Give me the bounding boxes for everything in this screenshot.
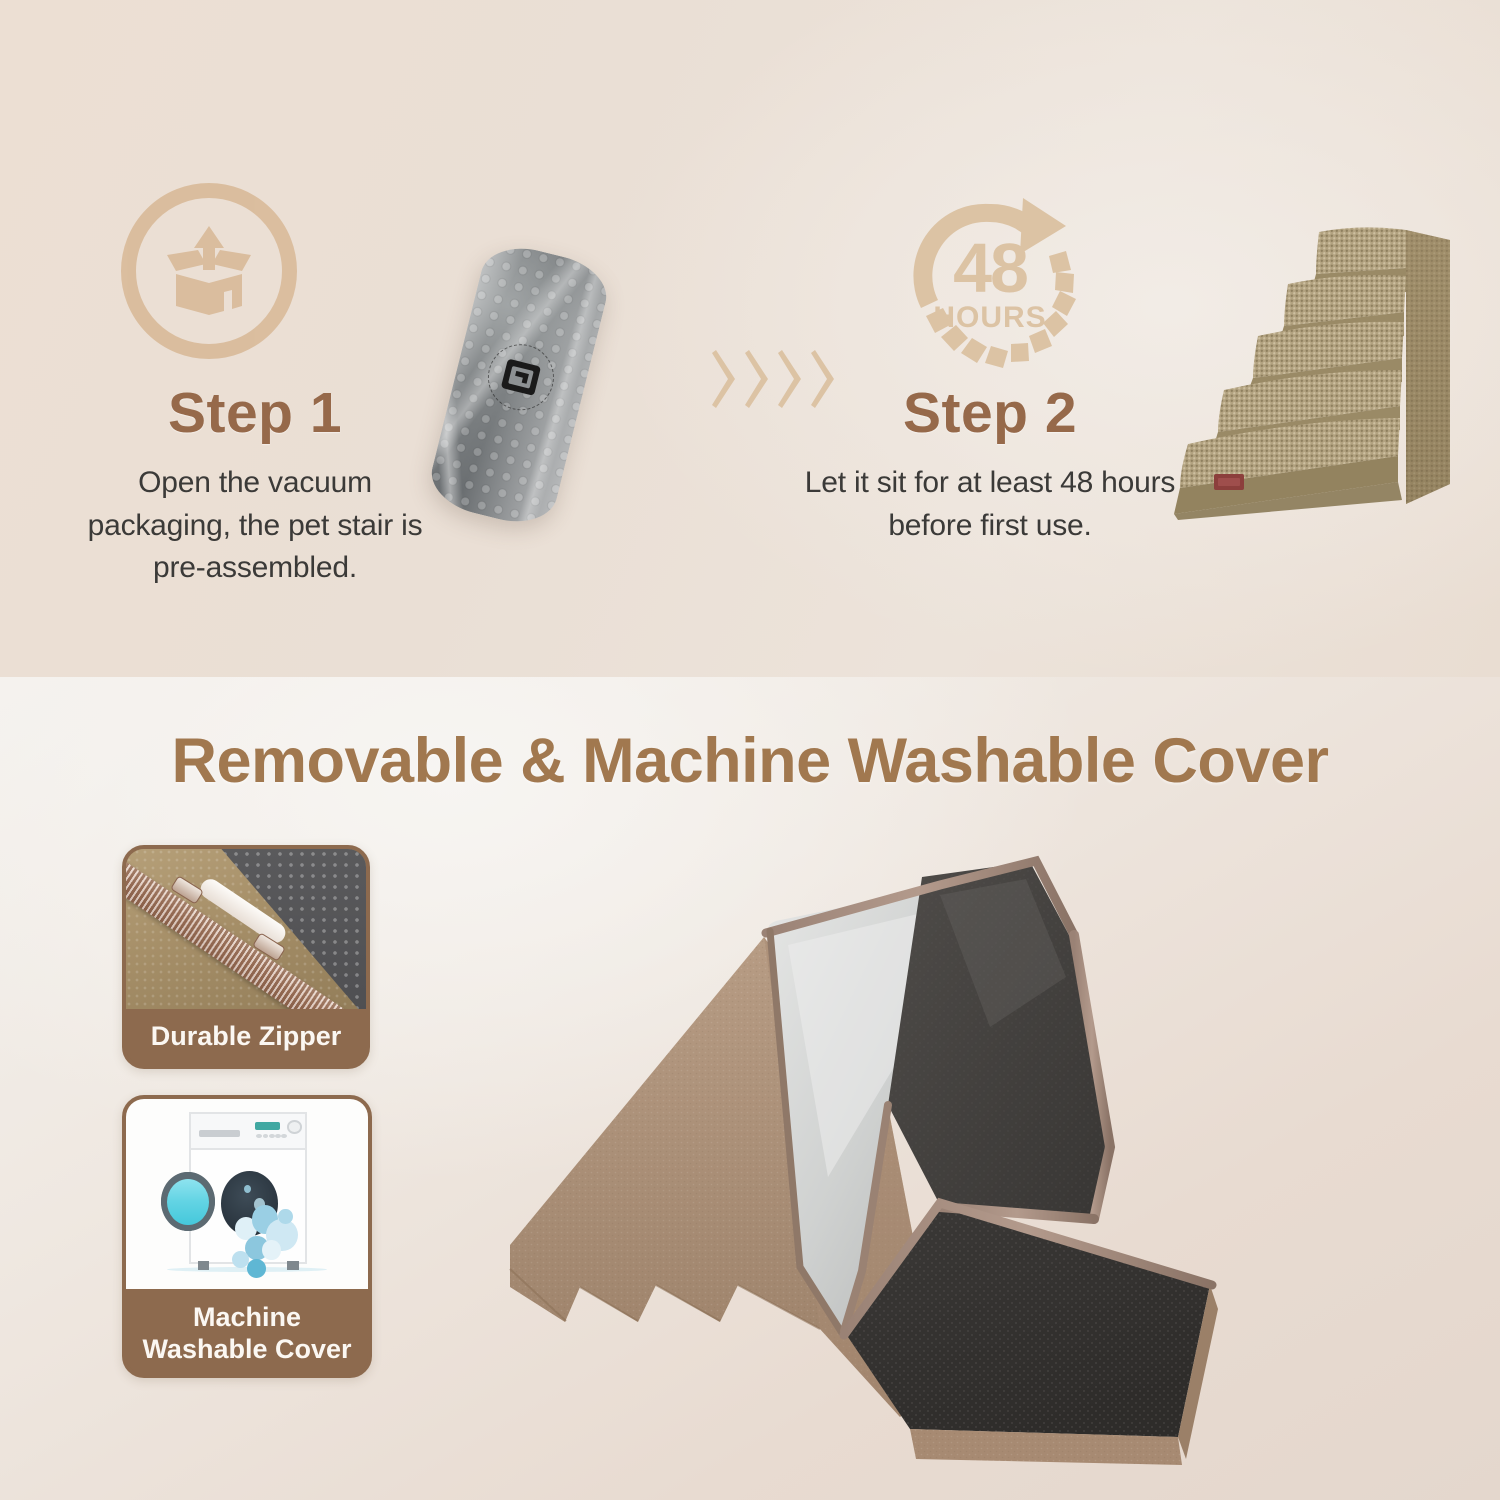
svg-text:48: 48 — [953, 229, 1027, 307]
open-box-arrow-up-icon — [121, 183, 297, 359]
zipper-closeup-photo — [126, 849, 366, 1009]
steps-section: Step 1 Open the vacuum packaging, the pe… — [0, 0, 1500, 677]
step-1-description: Open the vacuum packaging, the pet stair… — [30, 462, 480, 590]
chevron-right-icon — [712, 348, 739, 410]
washing-machine-illustration — [126, 1099, 368, 1289]
pet-stairs-photo — [1148, 212, 1468, 522]
hours-icon-glyph: 48 HOURS — [890, 190, 1090, 370]
washable-cover-section: Removable & Machine Washable Cover Durab… — [0, 677, 1500, 1500]
washer-door — [161, 1172, 215, 1231]
hero-product-illustration — [470, 817, 1230, 1467]
feature-card-machine-washable[interactable]: Machine Washable Cover — [122, 1095, 372, 1378]
box-icon-glyph — [136, 198, 282, 344]
washer-display — [255, 1122, 280, 1129]
svg-text:HOURS: HOURS — [933, 301, 1046, 334]
feature-card-label: Machine Washable Cover — [126, 1289, 368, 1378]
48-hours-circular-arrow-icon: 48 HOURS — [890, 190, 1090, 370]
step-1-title: Step 1 — [30, 385, 480, 442]
step-1-text-block: Step 1 Open the vacuum packaging, the pe… — [30, 385, 480, 590]
vacuum-package-photo — [424, 239, 614, 532]
brand-logo-icon — [497, 353, 545, 401]
feature-card-label: Durable Zipper — [126, 1009, 366, 1065]
washer-dial-icon — [287, 1120, 302, 1133]
page-title: Removable & Machine Washable Cover — [0, 725, 1500, 797]
infographic-page: Step 1 Open the vacuum packaging, the pe… — [0, 0, 1500, 1500]
washer-control-panel — [191, 1114, 306, 1150]
feature-card-durable-zipper[interactable]: Durable Zipper — [122, 845, 370, 1069]
pet-stairs-illustration — [1148, 212, 1468, 522]
pet-stairs-unzipped-cover-photo — [470, 817, 1230, 1467]
